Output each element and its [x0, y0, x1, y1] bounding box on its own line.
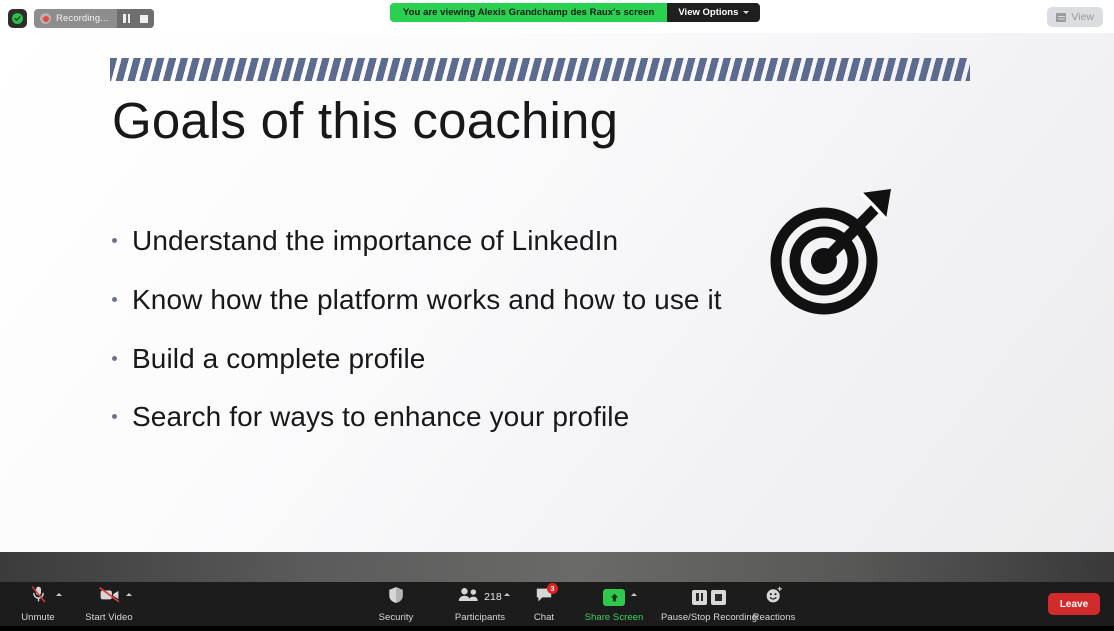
shared-screen-content[interactable]: Goals of this coaching Understand the im… [0, 33, 1114, 552]
recording-indicator-group: Recording... [8, 9, 154, 28]
people-icon [458, 587, 479, 607]
chat-label: Chat [534, 612, 554, 623]
chat-unread-badge: 3 [547, 583, 558, 594]
microphone-muted-icon [30, 585, 47, 609]
bullet-point-icon [112, 238, 117, 243]
camera-off-icon [99, 586, 120, 608]
recording-status-label: Recording... [56, 13, 108, 24]
recording-controls [117, 9, 154, 28]
share-screen-label: Share Screen [585, 612, 644, 623]
meeting-toolbar: Unmute Start Video [0, 582, 1114, 626]
security-label: Security [379, 612, 414, 623]
share-screen-button[interactable]: Share Screen [583, 582, 645, 631]
shield-icon [388, 586, 404, 609]
share-screen-up-arrow-icon [603, 589, 625, 606]
chat-button[interactable]: 3 Chat [528, 582, 560, 631]
participants-options-chevron-up-icon[interactable] [504, 593, 510, 596]
list-item: Know how the platform works and how to u… [112, 280, 752, 320]
participants-label: Participants [455, 612, 505, 623]
participants-button[interactable]: 218 Participants [447, 582, 513, 631]
leave-button[interactable]: Leave [1048, 593, 1100, 615]
pause-stop-recording-button[interactable]: Pause/Stop Recording [668, 582, 750, 631]
slide-bullet-list: Understand the importance of LinkedIn Kn… [112, 221, 752, 456]
bullet-text: Search for ways to enhance your profile [132, 397, 629, 437]
security-button[interactable]: Security [372, 582, 420, 631]
list-item: Search for ways to enhance your profile [112, 397, 752, 437]
stop-icon[interactable] [711, 590, 726, 605]
view-layout-button[interactable]: View [1047, 7, 1103, 27]
video-options-chevron-up-icon[interactable] [126, 593, 132, 596]
bullet-text: Understand the importance of LinkedIn [132, 221, 618, 261]
reactions-label: Reactions [753, 612, 796, 623]
pause-recording-icon[interactable] [123, 14, 130, 23]
zoom-meeting-window: Recording... You are viewing Alexis Gran… [0, 0, 1114, 626]
share-options-chevron-up-icon[interactable] [631, 593, 637, 596]
audio-options-chevron-up-icon[interactable] [56, 593, 62, 596]
bullet-point-icon [112, 297, 117, 302]
start-video-button[interactable]: Start Video [80, 582, 138, 631]
recording-pill: Recording... [34, 9, 154, 28]
grid-view-icon [1056, 13, 1066, 22]
recording-status: Recording... [34, 9, 117, 28]
list-item: Build a complete profile [112, 339, 752, 379]
top-bar: Recording... You are viewing Alexis Gran… [0, 0, 1114, 33]
bullet-point-icon [112, 414, 117, 419]
bullet-text: Know how the platform works and how to u… [132, 280, 722, 320]
chevron-down-icon [743, 11, 749, 14]
record-dot-icon [40, 13, 51, 24]
bullet-point-icon [112, 356, 117, 361]
smiley-reaction-icon [765, 586, 783, 609]
start-video-label: Start Video [85, 612, 132, 623]
shield-check-icon[interactable] [8, 9, 27, 28]
stop-recording-icon[interactable] [140, 15, 148, 23]
viewing-screen-message: You are viewing Alexis Grandchamp des Ra… [403, 7, 654, 18]
unmute-button[interactable]: Unmute [14, 582, 62, 631]
screen-share-banner: You are viewing Alexis Grandchamp des Ra… [390, 3, 760, 22]
bullet-text: Build a complete profile [132, 339, 425, 379]
view-button-label: View [1071, 11, 1094, 23]
target-with-arrow-icon [760, 181, 900, 321]
participants-count: 218 [484, 591, 502, 603]
list-item: Understand the importance of LinkedIn [112, 221, 752, 261]
view-options-label: View Options [678, 7, 738, 18]
leave-label: Leave [1060, 599, 1088, 610]
view-options-button[interactable]: View Options [667, 3, 760, 22]
reactions-button[interactable]: Reactions [748, 582, 800, 631]
screen-share-letterbox [0, 552, 1114, 582]
slide-title: Goals of this coaching [112, 91, 618, 150]
pause-icon[interactable] [692, 590, 707, 605]
pause-stop-recording-label: Pause/Stop Recording [661, 612, 757, 623]
slide-decorative-stripes [110, 58, 970, 81]
viewing-screen-notice: You are viewing Alexis Grandchamp des Ra… [390, 3, 667, 22]
unmute-label: Unmute [21, 612, 55, 623]
